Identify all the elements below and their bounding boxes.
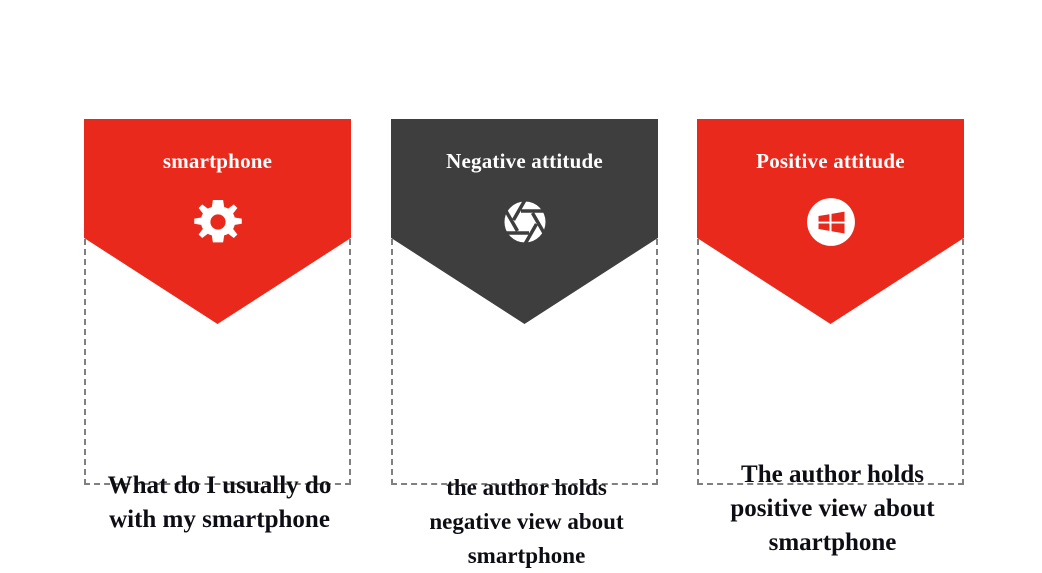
- card-caption: The author holds positive view about sma…: [699, 458, 966, 560]
- card-title: smartphone: [163, 151, 272, 172]
- card-banner: Negative attitude: [391, 119, 658, 324]
- card-caption: What do I usually do with my smartphone: [86, 469, 353, 537]
- card-title: Negative attitude: [446, 151, 603, 172]
- card-banner: Positive attitude: [697, 119, 964, 324]
- card-smartphone[interactable]: smartphone What do I usually do with my …: [84, 119, 351, 485]
- aperture-icon: [497, 194, 553, 250]
- diagram-canvas: smartphone What do I usually do with my …: [0, 0, 1042, 570]
- windows-logo-icon: [803, 194, 859, 250]
- card-banner: smartphone: [84, 119, 351, 324]
- card-negative-attitude[interactable]: Negative attitude: [391, 119, 658, 485]
- card-positive-attitude[interactable]: Positive attitude The author holds posit…: [697, 119, 964, 485]
- gear-icon: [190, 194, 246, 250]
- card-title: Positive attitude: [756, 151, 905, 172]
- card-caption: the author holds negative view about sma…: [393, 471, 660, 573]
